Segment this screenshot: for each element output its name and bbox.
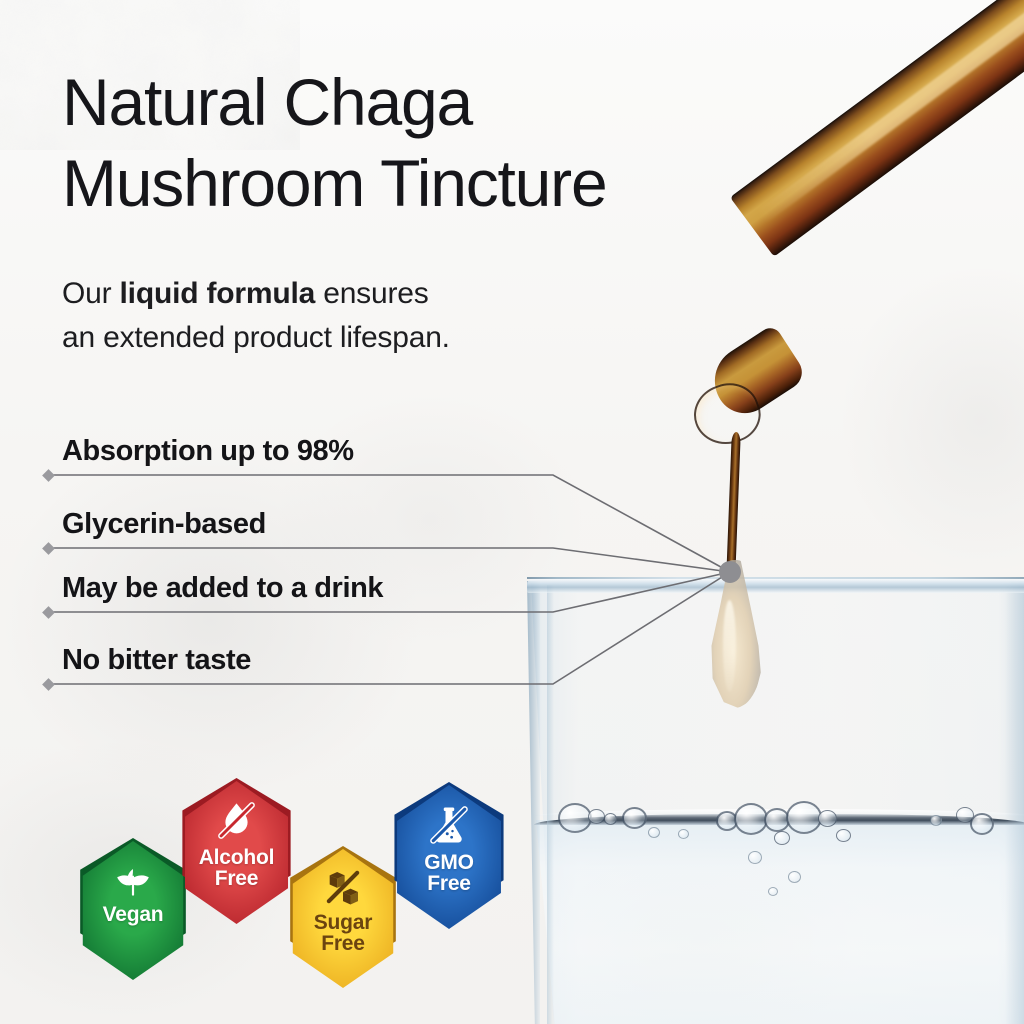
flask-slash-icon [428, 804, 470, 846]
badge-caption-line: Free [424, 873, 474, 894]
droplet-slash-icon [216, 800, 257, 841]
badge-caption-line: Sugar [314, 912, 373, 933]
badge-face-gmo-free: GMOFree [389, 785, 509, 929]
certification-badge-row: VeganAlcoholFreeSugarFreeGMOFree [0, 0, 1024, 1024]
leaves-icon [113, 859, 153, 899]
badge-caption-line: GMO [424, 852, 474, 873]
badge-caption-line: Free [314, 933, 373, 954]
badge-face-sugar-free: SugarFree [285, 849, 401, 988]
product-infographic: Natural Chaga Mushroom Tincture Our liqu… [0, 0, 1024, 1024]
badge-alcohol-free: AlcoholFree [174, 778, 299, 908]
sugar-cubes-slash-icon [323, 867, 363, 907]
badge-caption-gmo-free: GMOFree [424, 852, 474, 895]
badge-caption-vegan: Vegan [103, 904, 164, 925]
badge-caption-sugar-free: SugarFree [314, 912, 373, 955]
badge-gmo-free: GMOFree [386, 782, 512, 913]
badge-caption-line: Alcohol [199, 847, 275, 868]
badge-caption-line: Vegan [103, 904, 164, 925]
badge-caption-alcohol-free: AlcoholFree [199, 847, 275, 890]
badge-caption-line: Free [199, 868, 275, 889]
badge-face-alcohol-free: AlcoholFree [177, 781, 296, 924]
